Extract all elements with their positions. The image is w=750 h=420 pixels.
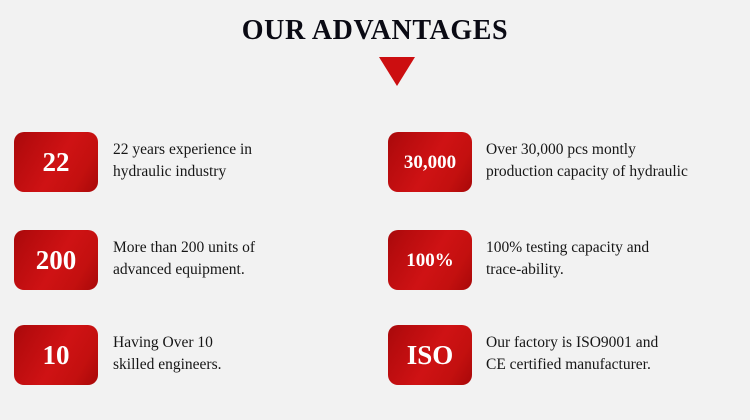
advantage-item: 10 Having Over 10 skilled engineers. [14,325,344,385]
advantage-badge-label: 10 [43,342,70,369]
advantage-badge-label: ISO [407,342,454,369]
advantages-banner: OUR ADVANTAGES 22 22 years experience in… [0,0,750,420]
advantage-item: 22 22 years experience in hydraulic indu… [14,132,344,192]
advantage-item: 100% 100% testing capacity and trace-abi… [388,230,748,290]
advantage-description: Having Over 10 skilled engineers. [113,325,221,376]
advantage-description: 22 years experience in hydraulic industr… [113,132,252,183]
advantage-badge: 10 [14,325,98,385]
advantage-badge-label: 200 [36,247,77,274]
advantage-badge-label: 100% [406,251,454,270]
advantage-badge: 22 [14,132,98,192]
advantage-description: More than 200 units of advanced equipmen… [113,230,255,281]
advantage-badge: ISO [388,325,472,385]
advantages-grid: 22 22 years experience in hydraulic indu… [0,0,750,420]
advantage-badge-label: 22 [43,149,70,176]
advantage-badge: 30,000 [388,132,472,192]
advantage-description: Over 30,000 pcs montly production capaci… [486,132,688,183]
advantage-item: 30,000 Over 30,000 pcs montly production… [388,132,748,192]
advantage-badge: 200 [14,230,98,290]
advantage-description: Our factory is ISO9001 and CE certified … [486,325,658,376]
advantage-description: 100% testing capacity and trace-ability. [486,230,649,281]
advantage-item: 200 More than 200 units of advanced equi… [14,230,344,290]
advantage-badge: 100% [388,230,472,290]
advantage-item: ISO Our factory is ISO9001 and CE certif… [388,325,748,385]
advantage-badge-label: 30,000 [404,153,456,172]
